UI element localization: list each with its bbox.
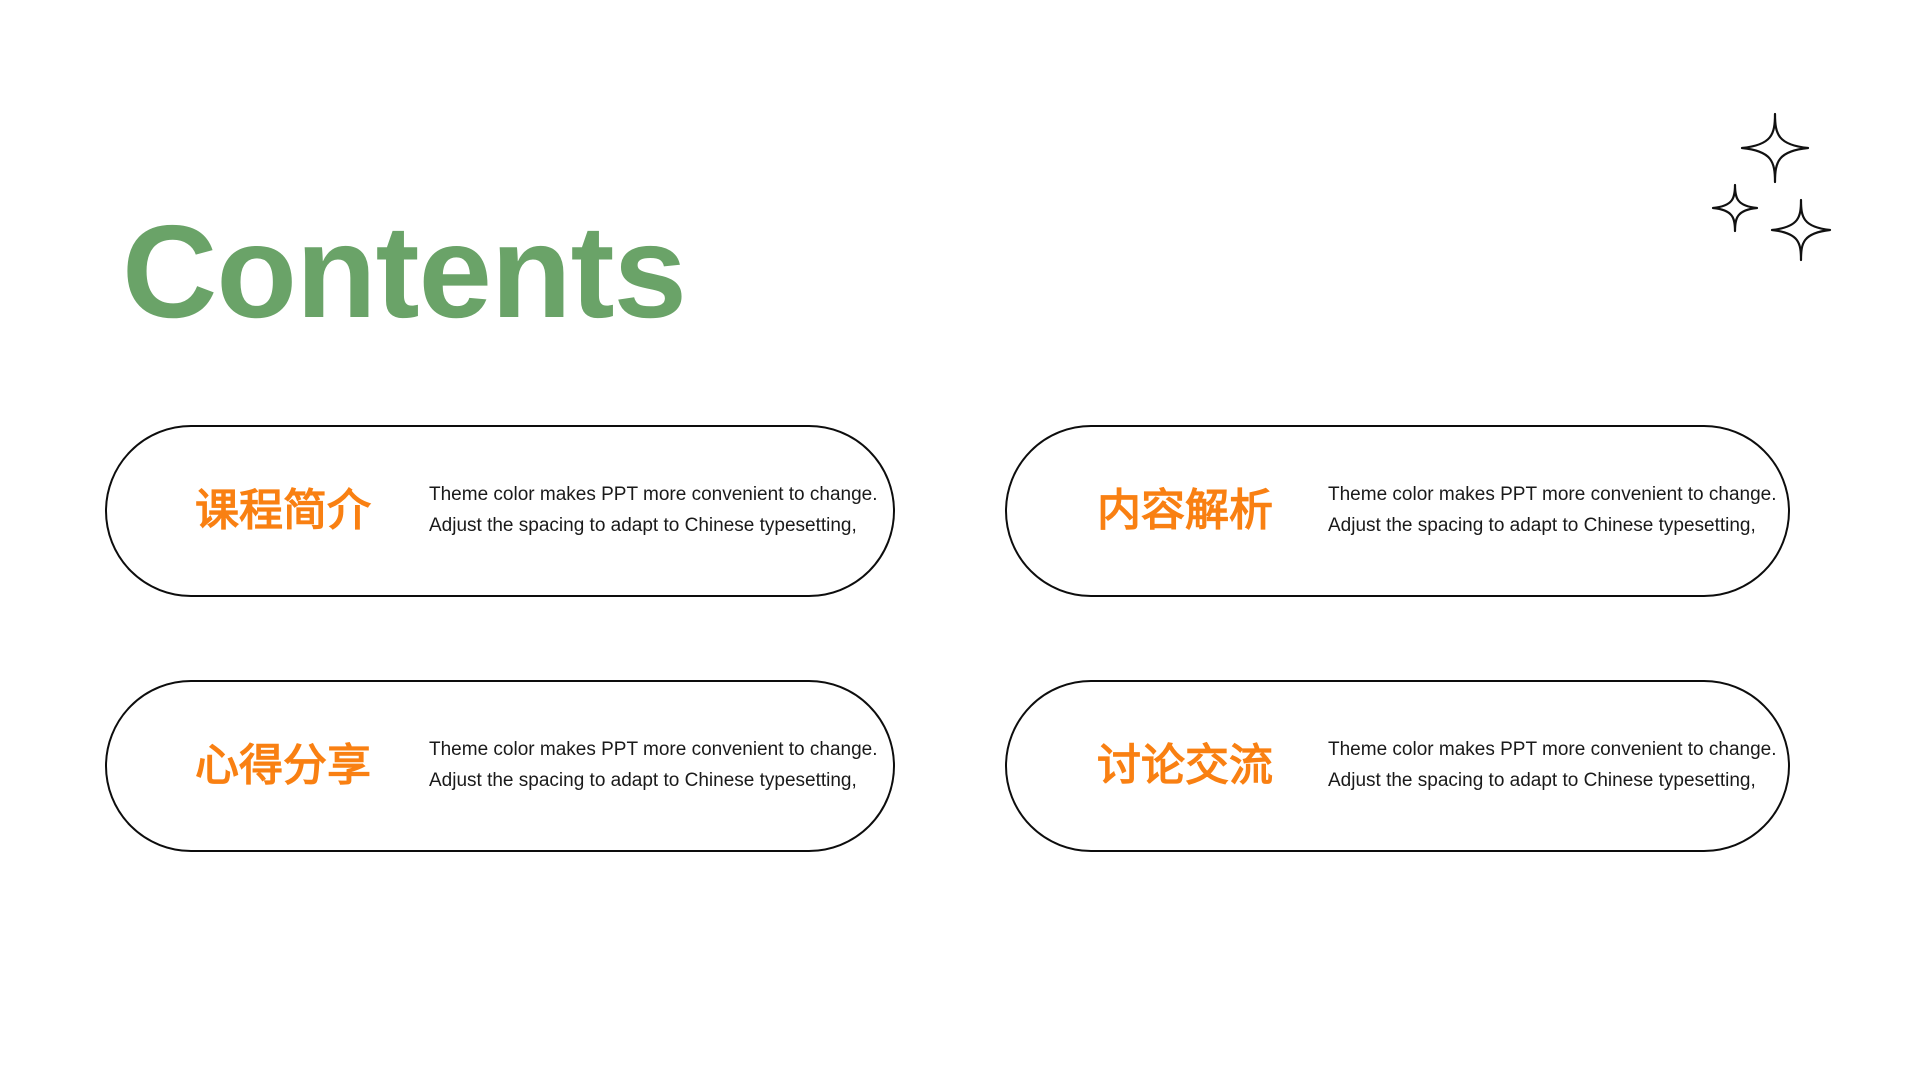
- card-body-line: Adjust the spacing to adapt to Chinese t…: [1328, 511, 1777, 542]
- card-body-line: Adjust the spacing to adapt to Chinese t…: [429, 766, 878, 797]
- card-body: Theme color makes PPT more convenient to…: [429, 480, 878, 542]
- content-card[interactable]: 内容解析 Theme color makes PPT more convenie…: [1005, 425, 1790, 597]
- content-card[interactable]: 心得分享 Theme color makes PPT more convenie…: [105, 680, 895, 852]
- slide-canvas: Contents 课程简介 Theme color makes PPT more…: [0, 0, 1920, 1080]
- card-body-line: Adjust the spacing to adapt to Chinese t…: [1328, 766, 1777, 797]
- card-body-line: Theme color makes PPT more convenient to…: [429, 480, 878, 511]
- card-body-line: Theme color makes PPT more convenient to…: [1328, 480, 1777, 511]
- sparkle-icon: [1711, 183, 1759, 233]
- sparkle-icon: [1770, 198, 1832, 262]
- card-body-line: Theme color makes PPT more convenient to…: [1328, 735, 1777, 766]
- card-heading: 内容解析: [1097, 488, 1273, 534]
- card-body: Theme color makes PPT more convenient to…: [1328, 735, 1777, 797]
- content-card[interactable]: 讨论交流 Theme color makes PPT more convenie…: [1005, 680, 1790, 852]
- card-body-line: Adjust the spacing to adapt to Chinese t…: [429, 511, 878, 542]
- card-heading: 心得分享: [195, 743, 371, 789]
- card-body: Theme color makes PPT more convenient to…: [429, 735, 878, 797]
- sparkle-icon: [1740, 112, 1810, 184]
- content-card[interactable]: 课程简介 Theme color makes PPT more convenie…: [105, 425, 895, 597]
- card-heading: 讨论交流: [1097, 743, 1273, 789]
- page-title: Contents: [122, 206, 686, 338]
- card-body: Theme color makes PPT more convenient to…: [1328, 480, 1777, 542]
- card-heading: 课程简介: [195, 488, 371, 534]
- card-body-line: Theme color makes PPT more convenient to…: [429, 735, 878, 766]
